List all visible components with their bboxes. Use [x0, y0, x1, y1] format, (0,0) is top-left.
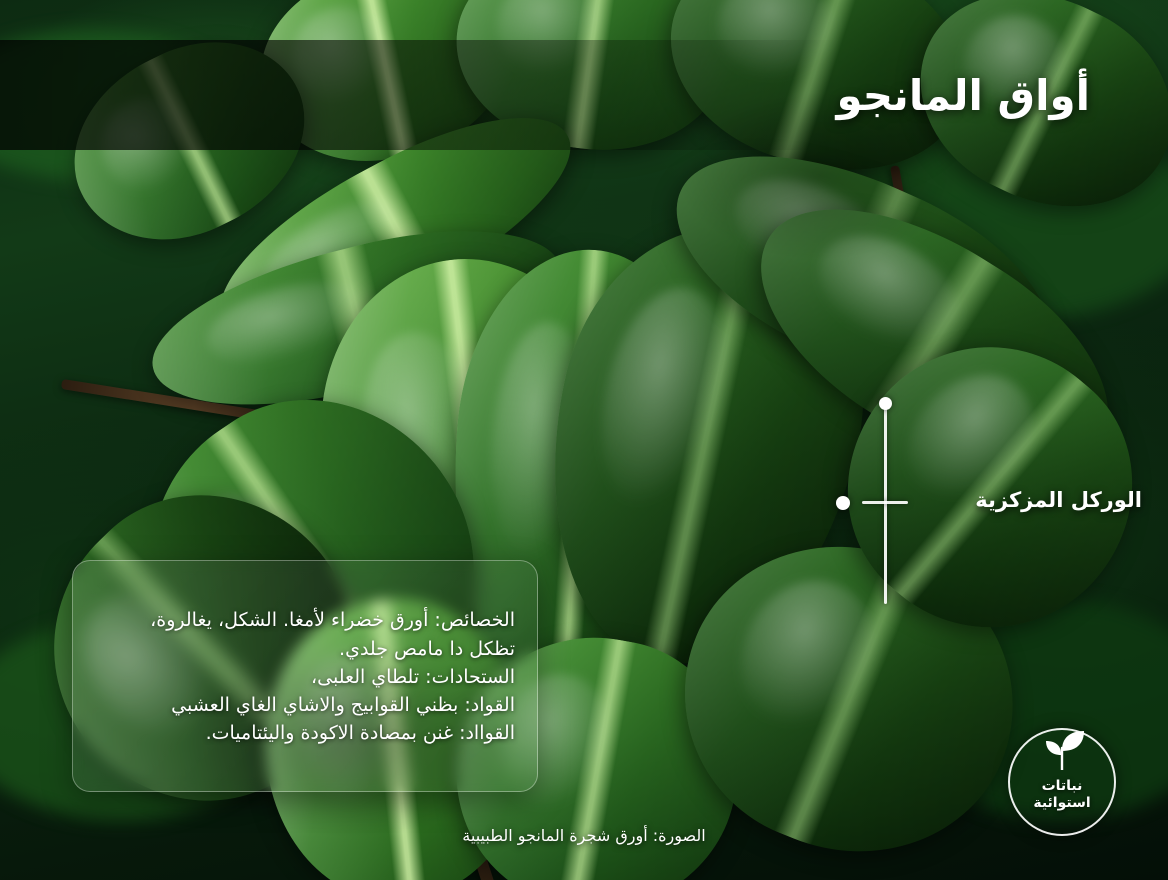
logo-text-line: نباتات — [1042, 778, 1083, 795]
poster-canvas: أواق المانجو الخصائص: أورق خضراء لأمغا. … — [0, 0, 1168, 880]
page-title: أواق المانجو — [836, 71, 1108, 120]
logo-text-line: استوائية — [1033, 795, 1090, 812]
info-card-line: القواد: بظني القوابيج والاشاي الغاي العش… — [95, 692, 515, 718]
info-card-line: القوااد: غنن بمصادة الاكودة واليئتاميات. — [95, 720, 515, 746]
info-card-line: تظكل دا مامص جلدي. — [95, 636, 515, 662]
logo-badge: نباتات استوائية — [1008, 728, 1116, 836]
info-card-line: الستحادات: تلطاي العلبى، — [95, 664, 515, 690]
info-card: الخصائص: أورق خضراء لأمغا. الشكل، يغالرو… — [72, 560, 538, 792]
info-card-line: الخصائص: أورق خضراء لأمغا. الشكل، يغالرو… — [95, 607, 515, 633]
title-banner: أواق المانجو — [0, 40, 1168, 150]
sprout-leaf-icon — [1036, 728, 1088, 770]
image-caption: الصورة: أورق شجرة المانجو الطبيبية — [0, 826, 1168, 845]
